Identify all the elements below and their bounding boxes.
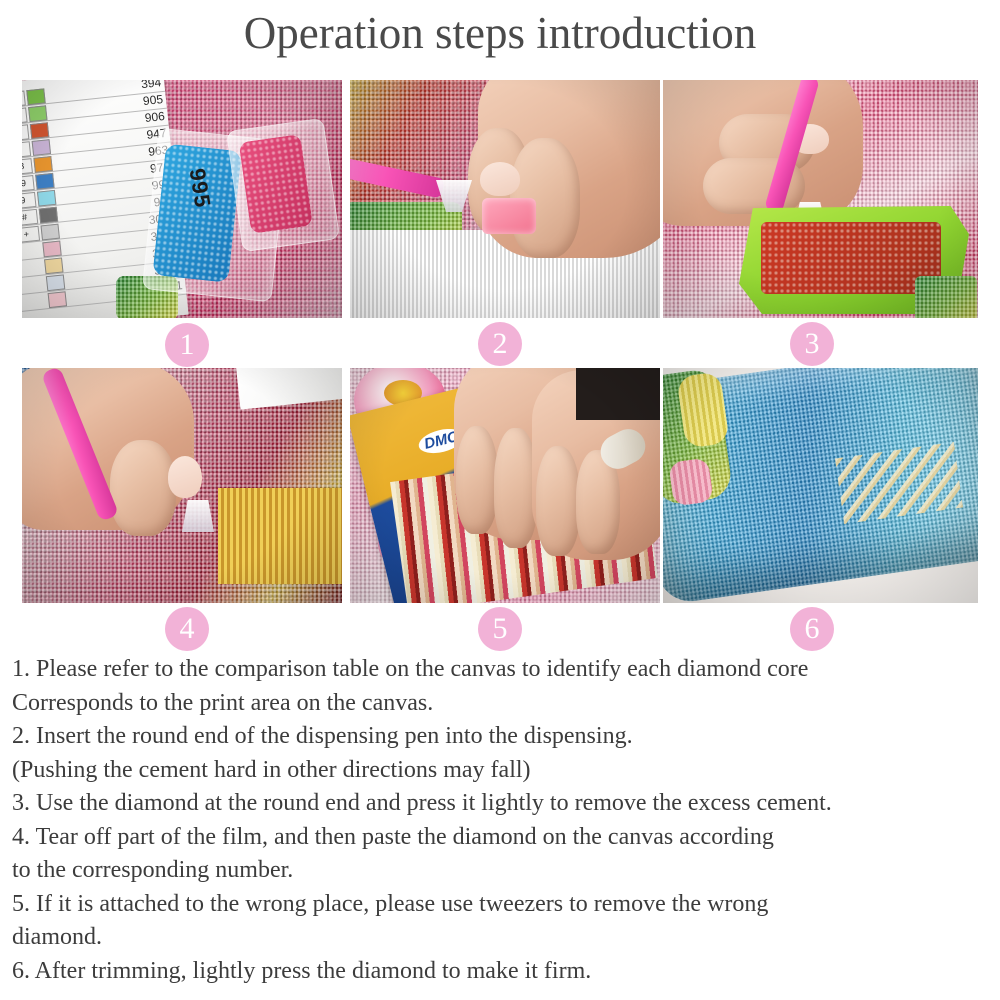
instruction-line: 5. If it is attached to the wrong place,… — [12, 888, 997, 922]
step-badge-5: 5 — [478, 607, 522, 651]
instruction-line: Corresponds to the print area on the can… — [12, 687, 997, 721]
panel-4-vignette — [22, 368, 342, 603]
step-photo-3 — [663, 80, 978, 318]
step-photo-4 — [22, 368, 342, 603]
step-photo-6 — [663, 368, 978, 603]
step-photo-2 — [350, 80, 660, 318]
step-photo-1: 34394 35905 36906 37947 38963 39971 9995… — [22, 80, 342, 318]
operation-steps-page: Operation steps introduction 34394 35905… — [0, 0, 1000, 1000]
instruction-line: 4. Tear off part of the film, and then p… — [12, 821, 997, 855]
panel-2-vignette — [350, 80, 660, 318]
step-badge-6: 6 — [790, 607, 834, 651]
page-title: Operation steps introduction — [0, 6, 1000, 60]
panel-6-vignette — [663, 368, 978, 603]
instruction-line: to the corresponding number. — [12, 854, 997, 888]
instruction-line: 2. Insert the round end of the dispensin… — [12, 720, 997, 754]
panel-5-vignette — [350, 368, 660, 603]
instruction-line: 3. Use the diamond at the round end and … — [12, 787, 997, 821]
instruction-line: 1. Please refer to the comparison table … — [12, 653, 997, 687]
panel-3-vignette — [663, 80, 978, 318]
panel-1-vignette — [22, 80, 342, 318]
step-badge-4: 4 — [165, 607, 209, 651]
instruction-line: diamond. — [12, 921, 997, 955]
step-badge-2: 2 — [478, 322, 522, 366]
step-badge-1: 1 — [165, 323, 209, 367]
step-badge-3: 3 — [790, 322, 834, 366]
instruction-line: (Pushing the cement hard in other direct… — [12, 754, 997, 788]
instructions-block: 1. Please refer to the comparison table … — [12, 653, 997, 988]
step-photo-5: DMC — [350, 368, 660, 603]
instruction-line: 6. After trimming, lightly press the dia… — [12, 955, 997, 989]
